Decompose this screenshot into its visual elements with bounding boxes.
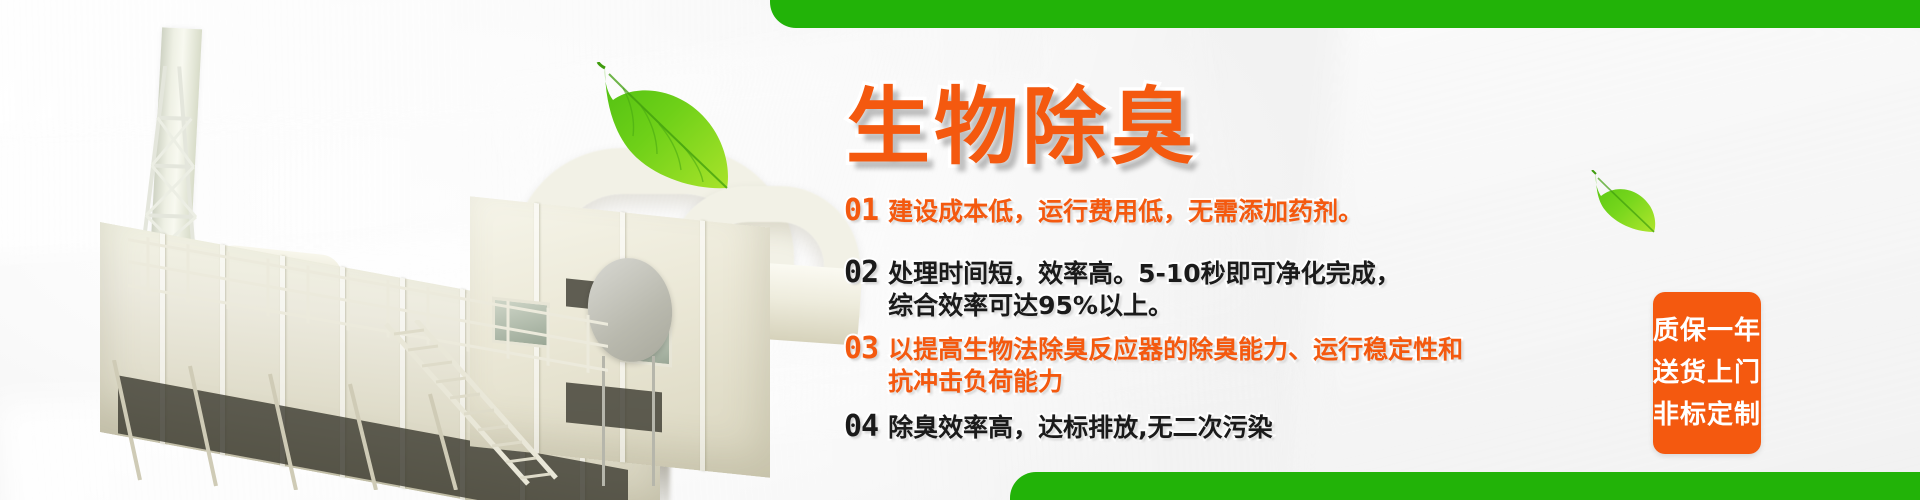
- feature-list: 01 建设成本低，运行费用低，无需添加药剂。 02 处理时间短，效率高。5-10…: [844, 196, 1654, 458]
- list-item-number: 04: [844, 412, 878, 442]
- list-item: 02 处理时间短，效率高。5-10秒即可净化完成， 综合效率可达95%以上。: [844, 258, 1654, 322]
- support-legs: [100, 360, 520, 490]
- promo-banner: 生物除臭 01 建设成本低，运行费用低，无需添加药剂。 02 处理时间短，效率高…: [0, 0, 1920, 500]
- list-item-text: 处理时间短，效率高。5-10秒即可净化完成， 综合效率可达95%以上。: [888, 258, 1401, 322]
- list-item-number: 02: [844, 258, 878, 288]
- list-item-text: 建设成本低，运行费用低，无需添加药剂。: [888, 196, 1363, 228]
- list-item: 04 除臭效率高，达标排放,无二次污染: [844, 412, 1654, 444]
- badge-line-custom: 非标定制: [1653, 402, 1761, 428]
- badge-line-delivery: 送货上门: [1653, 360, 1761, 386]
- list-item-number: 01: [844, 196, 878, 226]
- badge-line-warranty: 质保一年: [1653, 318, 1761, 344]
- list-item-text: 以提高生物法除臭反应器的除臭能力、运行稳定性和 抗冲击负荷能力: [888, 334, 1463, 398]
- list-item-text: 除臭效率高，达标排放,无二次污染: [888, 412, 1273, 444]
- list-item: 03 以提高生物法除臭反应器的除臭能力、运行稳定性和 抗冲击负荷能力: [844, 334, 1654, 398]
- service-badge[interactable]: 质保一年 送货上门 非标定制: [1653, 292, 1761, 454]
- content-panel: 生物除臭 01 建设成本低，运行费用低，无需添加药剂。 02 处理时间短，效率高…: [840, 0, 1660, 500]
- page-title: 生物除臭: [846, 60, 1198, 181]
- list-item: 01 建设成本低，运行费用低，无需添加药剂。: [844, 196, 1654, 228]
- leaf-icon: [595, 62, 745, 202]
- list-item-number: 03: [844, 334, 878, 364]
